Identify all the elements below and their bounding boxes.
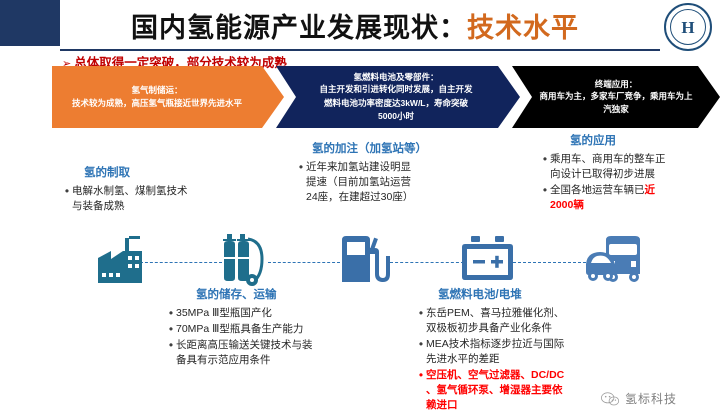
bullet-line: 提速（目前加氢站运营 [306, 176, 411, 188]
bullet-line: 赖进口 [426, 399, 458, 411]
page-title-main: 国内氢能源产业发展现状： [131, 6, 467, 45]
bullet-dot-icon: • [416, 306, 426, 321]
bullet-dot-icon: • [540, 183, 550, 198]
chevron-stage-terminal: 终端应用： 商用车为主，多家车厂竞争，乘用车为上 汽独家 [512, 66, 720, 128]
chevron-stage-fuelcell-body-2: 燃料电池功率密度达3kW/L，寿命突破 [324, 97, 468, 110]
chevron-stage-production: 氢气制储运： 技术较为成熟，高压氢气瓶接近世界先进水平 [52, 66, 284, 128]
list-item: • 全国各地运营车辆已近 2000辆 [540, 183, 720, 213]
bullet-dot-icon: • [416, 368, 426, 383]
dashed-connector [390, 262, 464, 263]
bullet-dot-icon: • [62, 184, 72, 199]
block-title-fuelcell-stack: 氢燃料电池/电堆 [416, 286, 646, 302]
chevron-stage-terminal-body-1: 商用车为主，多家车厂竞争，乘用车为上 [539, 90, 692, 103]
bullet-line-highlight: 2000辆 [550, 199, 584, 211]
chevron-stage-fuelcell-body-3: 5000小时 [378, 110, 414, 123]
page-title-accent: 技术水平 [467, 6, 579, 45]
bullet-line: 电解水制氢、煤制氢技术 [72, 185, 188, 197]
seal-inner-ring: H [670, 9, 706, 45]
dashed-connector [508, 262, 586, 263]
bullet-line: MEA技术指标逐步拉近与国际 [426, 338, 564, 350]
list-item: • 70MPa Ⅲ型瓶具备生产能力 [166, 322, 416, 337]
bullet-line: 24座，在建超过30座） [306, 191, 413, 203]
bullet-dot-icon: • [540, 152, 550, 167]
footer-brand: 氢标科技 [600, 390, 677, 407]
bullet-line: 与装备成熟 [72, 200, 125, 212]
process-chevron-banner: 氢气制储运： 技术较为成熟，高压氢气瓶接近世界先进水平 氢燃料电池及零部件： 自… [52, 66, 720, 128]
bullet-line: 、氢气循环泵、增湿器主要依 [426, 384, 563, 396]
bullet-line-highlight: 近 [645, 184, 656, 196]
page-title: 国内氢能源产业发展现状：技术水平 [60, 2, 650, 48]
bullet-line: 备具有示范应用条件 [176, 354, 271, 366]
bullet-dot-icon: • [166, 306, 176, 321]
text-block-hydrogen-refueling: 氢的加注（加氢站等） • 近年来加氢站建设明显 提速（目前加氢站运营 24座，在… [296, 140, 511, 206]
bullet-line: 长距离高压输送关键技术与装 [176, 339, 313, 351]
header-divider [60, 49, 660, 51]
block-title-hydrogen-storage-transport: 氢的储存、运输 [166, 286, 416, 302]
factory-icon [94, 232, 146, 295]
list-item: • 东岳PEM、喜马拉雅催化剂、 双极板初步具备产业化条件 [416, 306, 646, 336]
dashed-connector [268, 262, 340, 263]
seal-letter: H [681, 19, 694, 36]
chevron-stage-fuelcell: 氢燃料电池及零部件： 自主开发和引进转化同时发展，自主开发 燃料电池功率密度达3… [276, 66, 520, 128]
bullet-line: 70MPa Ⅲ型瓶具备生产能力 [176, 322, 303, 337]
bullet-line: 东岳PEM、喜马拉雅催化剂、 [426, 307, 564, 319]
bullet-line: 空压机、空气过滤器、DC/DC [426, 369, 564, 381]
bullet-dot-icon: • [416, 337, 426, 352]
chevron-stage-terminal-body-2: 汽独家 [603, 103, 629, 116]
bullet-dot-icon: • [166, 338, 176, 353]
bullet-line: 向设计已取得初步进展 [550, 168, 655, 180]
university-seal-logo: H [664, 3, 712, 51]
list-item: • 乘用车、商用车的整车正 向设计已取得初步进展 [540, 152, 720, 182]
list-item: • MEA技术指标逐步拉近与国际 先进水平的差距 [416, 337, 646, 367]
bullet-line: 先进水平的差距 [426, 353, 500, 365]
chevron-stage-fuelcell-heading: 氢燃料电池及零部件： [353, 71, 438, 83]
bullet-line: 近年来加氢站建设明显 [306, 161, 411, 173]
bullet-line: 双极板初步具备产业化条件 [426, 322, 552, 334]
bullet-line: 乘用车、商用车的整车正 [550, 153, 666, 165]
bullet-line: 全国各地运营车辆已 [550, 184, 645, 196]
chevron-stage-production-body: 技术较为成熟，高压氢气瓶接近世界先进水平 [72, 97, 242, 110]
header-accent-block [0, 0, 60, 46]
list-item: • 近年来加氢站建设明显 提速（目前加氢站运营 24座，在建超过30座） [296, 160, 511, 205]
list-item: • 35MPa Ⅲ型瓶国产化 [166, 306, 416, 321]
list-item: • 长距离高压输送关键技术与装 备具有示范应用条件 [166, 338, 416, 368]
bullet-dot-icon: • [296, 160, 306, 175]
text-block-hydrogen-application: 氢的应用 • 乘用车、商用车的整车正 向设计已取得初步进展 • 全国各地运营车辆… [540, 132, 720, 214]
process-icon-row [0, 232, 720, 294]
text-block-hydrogen-storage-transport: 氢的储存、运输 • 35MPa Ⅲ型瓶国产化 • 70MPa Ⅲ型瓶具备生产能力… [166, 286, 416, 369]
wechat-icon [600, 392, 620, 406]
chevron-stage-terminal-heading: 终端应用： [595, 78, 638, 90]
block-title-hydrogen-application: 氢的应用 [540, 132, 720, 148]
block-title-hydrogen-refueling: 氢的加注（加氢站等） [296, 140, 511, 156]
text-block-hydrogen-production: 氢的制取 • 电解水制氢、煤制氢技术 与装备成熟 [62, 164, 262, 215]
dashed-connector [140, 262, 222, 263]
block-title-hydrogen-production: 氢的制取 [62, 164, 262, 180]
footer-brand-text: 氢标科技 [625, 390, 677, 407]
chevron-stage-production-heading: 氢气制储运： [131, 84, 182, 96]
chevron-stage-fuelcell-body-1: 自主开发和引进转化同时发展，自主开发 [319, 83, 472, 96]
list-item: • 电解水制氢、煤制氢技术 与装备成熟 [62, 184, 262, 214]
bullet-dot-icon: • [166, 322, 176, 337]
bullet-line: 35MPa Ⅲ型瓶国产化 [176, 306, 272, 321]
page-header: 国内氢能源产业发展现状：技术水平 H [0, 0, 720, 56]
